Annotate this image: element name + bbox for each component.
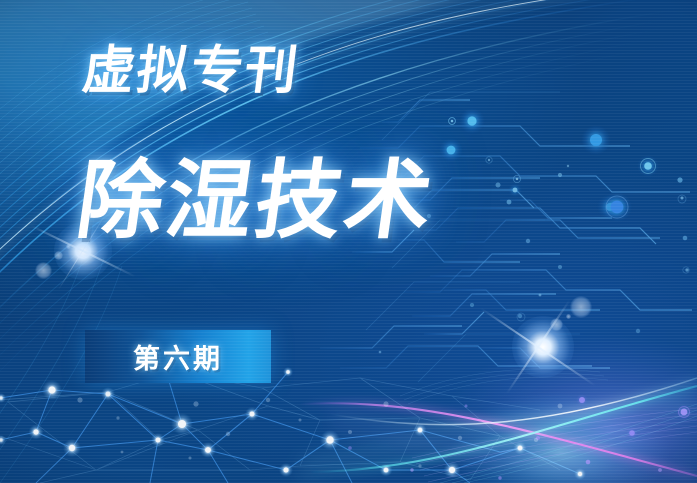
poster-headline: 除湿技术	[72, 158, 440, 244]
poster-kicker: 虚拟专刊	[80, 45, 302, 97]
issue-badge: 第六期	[85, 330, 271, 383]
issue-badge-label: 第六期	[133, 337, 223, 376]
poster-canvas: 虚拟专刊 除湿技术 第六期	[0, 0, 697, 483]
poster-content: 虚拟专刊 除湿技术 第六期	[0, 0, 697, 483]
